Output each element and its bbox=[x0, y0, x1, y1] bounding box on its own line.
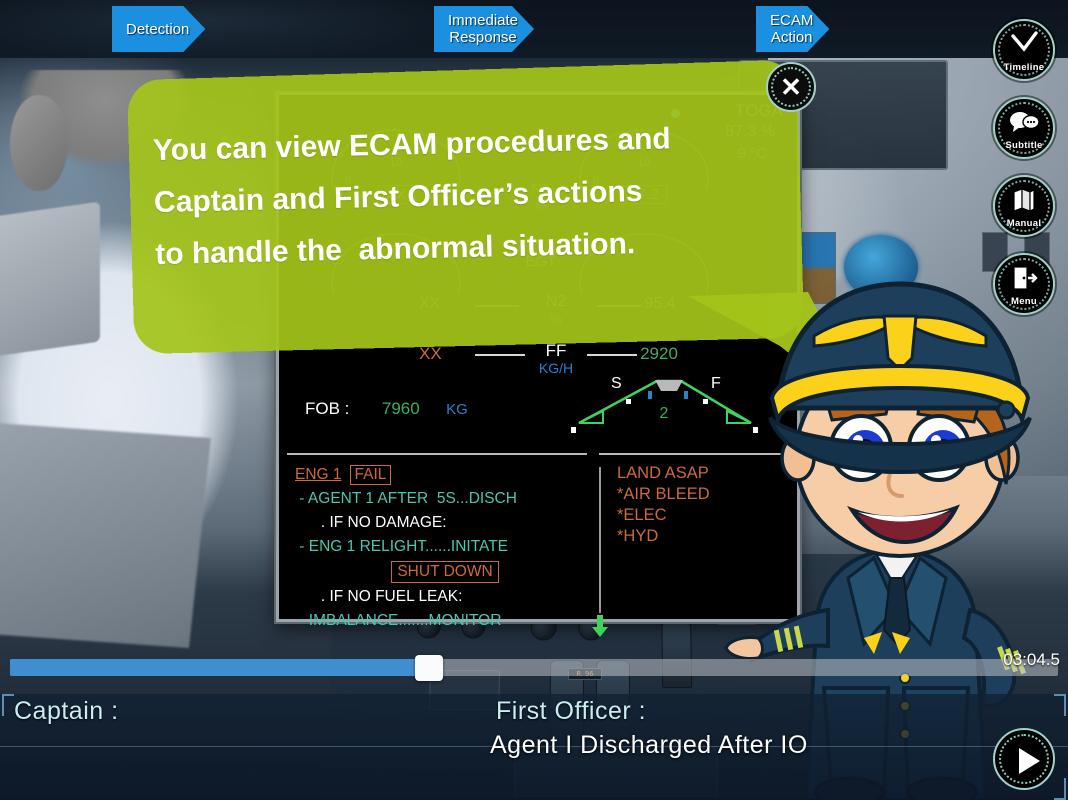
ff-left-value: XX bbox=[419, 344, 442, 364]
timeline-button[interactable]: Timeline bbox=[993, 19, 1055, 81]
subtitle-button[interactable]: Subtitle bbox=[993, 97, 1055, 159]
play-icon bbox=[1019, 748, 1040, 774]
procedure-line: SHUT DOWN bbox=[295, 560, 595, 584]
ecam-procedure-list: ENG 1FAIL - AGENT 1 AFTER 5S...DISCH . I… bbox=[295, 463, 595, 633]
manual-button[interactable]: Manual bbox=[993, 175, 1055, 237]
first-officer-speaker-label: First Officer : bbox=[496, 697, 646, 726]
media-player-bar bbox=[0, 645, 1068, 690]
flap-label: F bbox=[711, 375, 721, 393]
ecam-display[interactable]: TOGA 87.3 % 9 °C 5 10 XX 5 10 87.2 N1 % … bbox=[276, 92, 800, 622]
n2-unit: % bbox=[471, 311, 641, 326]
n2-left-value: XX bbox=[419, 295, 440, 313]
speech-bubbles-icon bbox=[995, 108, 1053, 136]
subtitle-button-label: Subtitle bbox=[995, 140, 1053, 151]
tab-detection-label: Detection bbox=[126, 21, 189, 38]
status-line: *AIR BLEED bbox=[617, 484, 710, 505]
procedure-header: ENG 1FAIL bbox=[295, 463, 595, 487]
n2-label: N2 bbox=[546, 293, 566, 310]
ecam-scroll-divider bbox=[599, 467, 601, 613]
procedure-line: - IMBALANCE.......MONITOR bbox=[295, 609, 595, 633]
captain-speaker-label: Captain : bbox=[14, 697, 119, 726]
procedure-line: - ENG 1 RELIGHT......INITATE bbox=[295, 535, 595, 559]
manual-button-label: Manual bbox=[995, 218, 1053, 229]
book-icon bbox=[995, 186, 1053, 214]
n2-row: XX N2 % 95.4 bbox=[279, 293, 797, 333]
egt-label: EGT bbox=[491, 253, 591, 270]
timecode-display: 03:04.5 bbox=[1003, 650, 1060, 670]
procedure-failure-box: FAIL bbox=[350, 465, 392, 485]
pilot-headset bbox=[10, 95, 68, 191]
status-line: *HYD bbox=[617, 526, 710, 547]
n1-unit: % bbox=[491, 199, 591, 213]
tab-immediate-response[interactable]: Immediate Response bbox=[434, 6, 534, 52]
subtitle-corner-right-bottom bbox=[1054, 778, 1066, 800]
first-officer-subtitle-text: Agent I Discharged After IO bbox=[490, 731, 808, 760]
procedure-line: . IF NO DAMAGE: bbox=[295, 511, 595, 535]
close-icon: ✕ bbox=[768, 64, 814, 110]
fob-row: FOB : 7960 KG bbox=[305, 399, 468, 419]
progress-fill bbox=[10, 659, 429, 676]
ff-label: FF bbox=[546, 341, 567, 360]
shut-down-box: SHUT DOWN bbox=[391, 561, 498, 583]
procedure-line: . IF NO FUEL LEAK: bbox=[295, 585, 595, 609]
n1-gauge-right: 5 10 87.2 bbox=[579, 129, 709, 225]
clock-icon bbox=[995, 30, 1053, 58]
procedure-line: - AGENT 1 AFTER 5S...DISCH bbox=[295, 487, 595, 511]
app-root: 2606 R 96 Detection Immediate Response E… bbox=[0, 0, 1068, 800]
ecam-status-list: LAND ASAP *AIR BLEED *ELEC *HYD bbox=[617, 463, 710, 547]
close-tutorial-button[interactable]: ✕ bbox=[766, 62, 816, 112]
slat-label: S bbox=[611, 375, 622, 393]
n2-right-value: 95.4 bbox=[617, 295, 703, 313]
status-line: *ELEC bbox=[617, 505, 710, 526]
fob-unit: KG bbox=[446, 401, 468, 418]
flap-position: 2 bbox=[660, 405, 669, 423]
ecam-indicator-dot bbox=[671, 109, 680, 118]
status-line: LAND ASAP bbox=[617, 463, 710, 484]
tab-ecam-action[interactable]: ECAM Action bbox=[756, 6, 829, 52]
tab-immediate-response-label: Immediate Response bbox=[448, 12, 518, 46]
subtitle-corner-right bbox=[1054, 694, 1066, 716]
seat-backrest bbox=[0, 202, 100, 359]
n1-gauge-left: 5 10 XX bbox=[331, 129, 461, 225]
tab-detection[interactable]: Detection bbox=[112, 6, 205, 52]
progress-track[interactable] bbox=[10, 659, 1058, 676]
timeline-button-label: Timeline bbox=[995, 62, 1053, 73]
n1-label: N1 bbox=[491, 181, 591, 198]
seat-lower bbox=[0, 422, 211, 648]
ecam-divider-left bbox=[287, 453, 587, 455]
fob-value: 7960 bbox=[382, 399, 420, 418]
tab-ecam-action-label: ECAM Action bbox=[770, 12, 813, 46]
subtitle-corner-left bbox=[2, 694, 14, 716]
fob-label: FOB : bbox=[305, 399, 349, 418]
play-button[interactable] bbox=[993, 728, 1055, 790]
procedure-system: ENG 1 bbox=[295, 466, 342, 483]
ecam-egt-top-value: 9 °C bbox=[738, 145, 767, 162]
ecam-n1-top-value: 87.3 % bbox=[725, 123, 775, 141]
progress-handle[interactable] bbox=[415, 655, 443, 681]
